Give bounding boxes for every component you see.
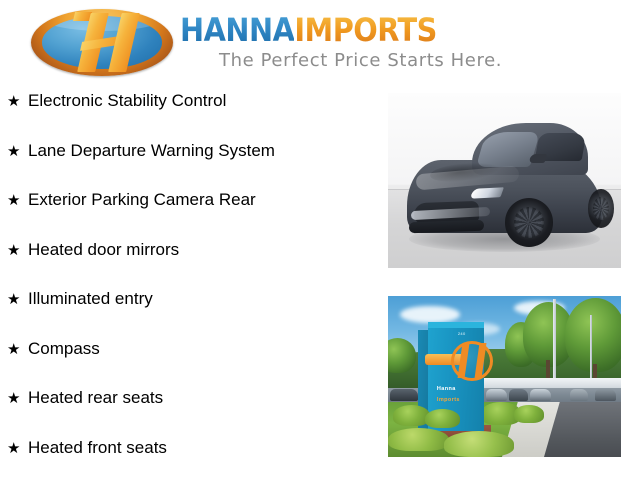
list-item: ★ Heated rear seats [0, 389, 370, 439]
star-bullet-icon: ★ [0, 243, 28, 258]
parked-car [486, 389, 507, 402]
wordmark-imports: IMPORTS [294, 11, 437, 49]
feature-list: ★ Electronic Stability Control ★ Lane De… [0, 92, 370, 488]
vehicle-photo [388, 93, 621, 268]
list-item: ★ Illuminated entry [0, 290, 370, 340]
feature-label: Illuminated entry [28, 290, 153, 307]
parked-car [390, 389, 418, 402]
hanna-oval-h-logo-icon [31, 9, 173, 76]
parked-car [595, 389, 616, 402]
feature-label: Heated front seats [28, 439, 167, 456]
feature-label: Heated door mirrors [28, 241, 179, 258]
feature-label: Compass [28, 340, 100, 357]
list-item: ★ Compass [0, 340, 370, 390]
shrub [388, 428, 449, 451]
feature-label: Lane Departure Warning System [28, 142, 275, 159]
monument-sign-street-number: 240 [458, 331, 466, 336]
list-item: ★ Heated door mirrors [0, 241, 370, 291]
vehicle-headlight [470, 187, 504, 198]
dealership-photo: 240 Hanna Imports [388, 296, 621, 457]
star-bullet-icon: ★ [0, 391, 28, 406]
monument-sign-text-imports: Imports [437, 397, 460, 403]
brand-wordmark: HANNAIMPORTS [180, 14, 437, 46]
vehicle-rear-wheel [588, 189, 614, 228]
parked-car [530, 389, 551, 402]
monument-sign-cap [428, 322, 484, 328]
feature-label: Exterior Parking Camera Rear [28, 191, 256, 208]
feature-label: Electronic Stability Control [28, 92, 226, 109]
list-item: ★ Exterior Parking Camera Rear [0, 191, 370, 241]
shrub [514, 405, 544, 423]
star-bullet-icon: ★ [0, 193, 28, 208]
star-bullet-icon: ★ [0, 144, 28, 159]
shrub [444, 431, 514, 457]
brand-tagline: The Perfect Price Starts Here. [219, 50, 502, 71]
brand-header: HANNAIMPORTS The Perfect Price Starts He… [0, 0, 640, 88]
list-item: ★ Lane Departure Warning System [0, 142, 370, 192]
parked-car [509, 389, 528, 402]
vehicle-front-wheel [505, 198, 554, 247]
light-pole [590, 315, 592, 383]
vehicle-front-bumper [409, 219, 484, 232]
wordmark-hanna: HANNA [180, 11, 294, 49]
light-pole [553, 299, 556, 383]
list-item: ★ Electronic Stability Control [0, 92, 370, 142]
star-bullet-icon: ★ [0, 342, 28, 357]
list-item: ★ Heated front seats [0, 439, 370, 488]
tree [565, 298, 621, 372]
shrub [425, 409, 460, 428]
parked-car [570, 389, 589, 402]
star-bullet-icon: ★ [0, 292, 28, 307]
feature-label: Heated rear seats [28, 389, 163, 406]
monument-sign-text-hanna: Hanna [437, 386, 456, 392]
star-bullet-icon: ★ [0, 441, 28, 456]
star-bullet-icon: ★ [0, 94, 28, 109]
